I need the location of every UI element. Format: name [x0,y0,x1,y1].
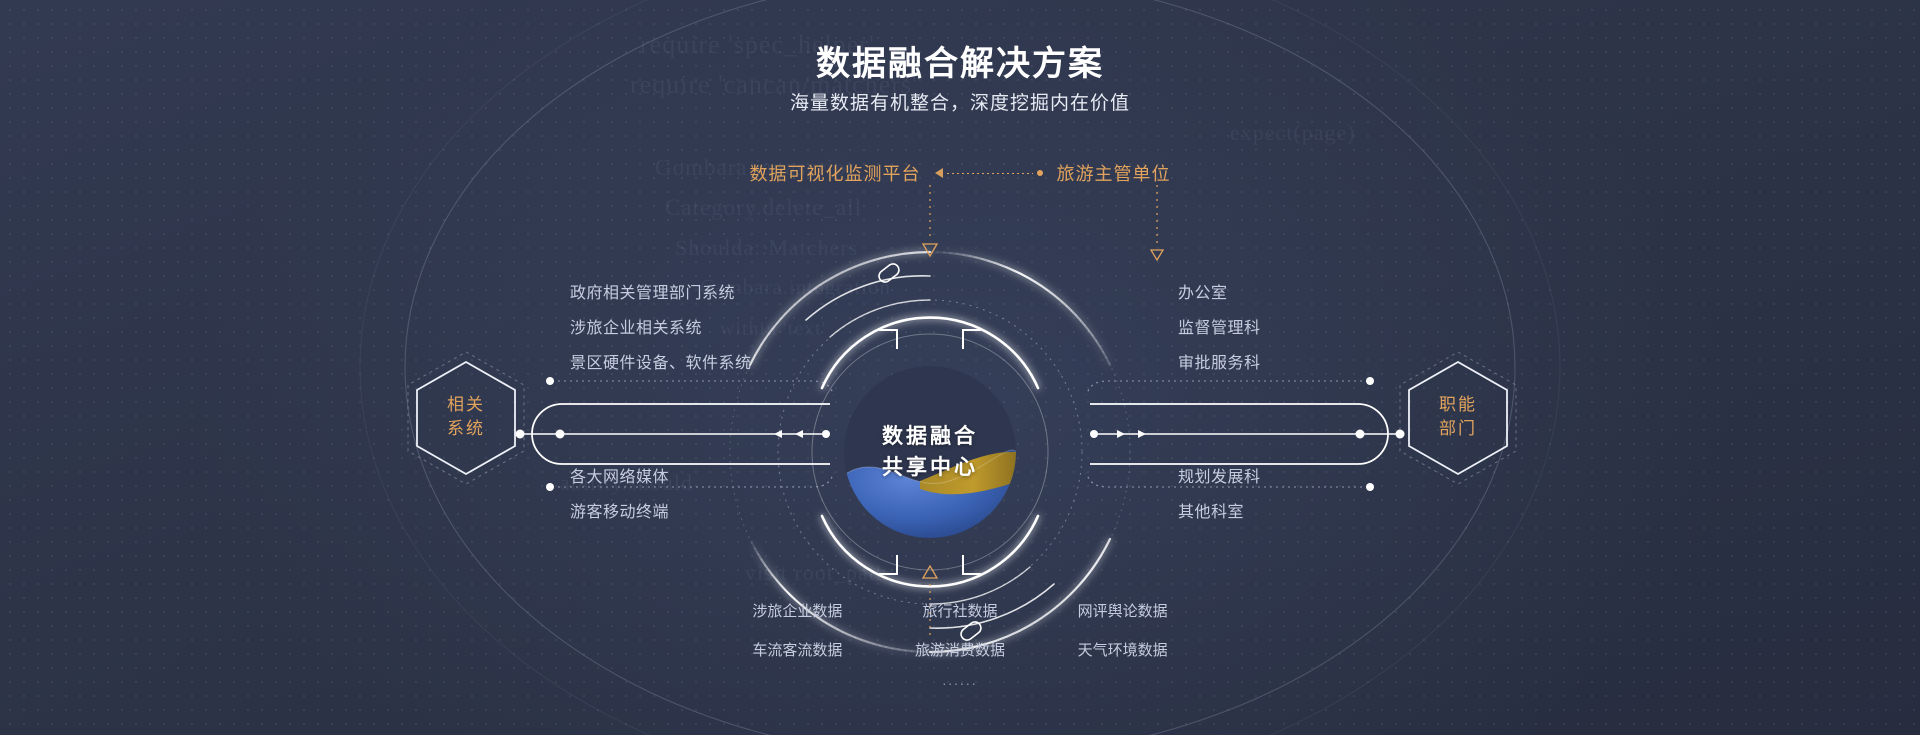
core-line2: 共享中心 [882,452,978,483]
right-lower-departments: 规划发展科 其他科室 [1178,460,1261,530]
right-upper-departments: 办公室 监督管理科 审批服务科 [1178,276,1261,381]
left-lower-sources: 各大网络媒体 游客移动终端 [570,460,669,530]
list-item: 车流客流数据 [720,639,875,660]
left-upper-sources: 政府相关管理部门系统 涉旅企业相关系统 景区硬件设备、软件系统 [570,276,752,381]
end-dot [1037,170,1043,176]
list-item: 办公室 [1178,276,1261,311]
dotted-line [947,173,1033,174]
list-item: 涉旅企业数据 [720,600,875,621]
list-item: 旅行社数据 [883,600,1038,621]
triangle-left-icon [935,168,943,178]
hexagon-left-line1: 相关 [447,393,485,417]
page-title: 数据融合解决方案 [0,36,1920,85]
hexagon-left-label: 相关 系统 [408,352,524,482]
code-line: Category.delete_all [665,195,862,221]
bottom-ellipsis: ...... [720,672,1200,688]
list-item: 涉旅企业相关系统 [570,311,752,346]
page-subtitle: 海量数据有机整合，深度挖掘内在价值 [0,88,1920,115]
list-item: 政府相关管理部门系统 [570,276,752,311]
code-line: expect(page) [1230,120,1356,146]
list-item: 景区硬件设备、软件系统 [570,346,752,381]
hexagon-right-functional-departments[interactable]: 职能 部门 [1400,352,1516,482]
list-item: 天气环境数据 [1045,639,1200,660]
hexagon-left-related-systems[interactable]: 相关 系统 [408,352,524,482]
hexagon-left-line2: 系统 [447,417,485,441]
hexagon-right-label: 职能 部门 [1400,352,1516,482]
code-line: visit root_path [745,560,888,586]
code-line: Shoulda::Matchers [675,235,858,261]
top-flow-row: 数据可视化监测平台 旅游主管单位 [0,160,1920,186]
infographic-canvas: require 'spec_helper' require 'cancan/ma… [0,0,1920,735]
arrow-left-dotted-icon [935,168,1043,178]
list-item: 游客移动终端 [570,495,669,530]
list-item: 审批服务科 [1178,346,1261,381]
list-item: 其他科室 [1178,495,1261,530]
list-item: 监督管理科 [1178,311,1261,346]
core-line1: 数据融合 [882,421,978,452]
label-visualization-platform[interactable]: 数据可视化监测平台 [750,160,921,186]
list-item: 各大网络媒体 [570,460,669,495]
bottom-data-sources: 涉旅企业数据 旅行社数据 网评舆论数据 车流客流数据 旅游消费数据 天气环境数据 [720,600,1200,660]
left-connector-bus [516,377,835,491]
list-item: 旅游消费数据 [883,639,1038,660]
list-item: 规划发展科 [1178,460,1261,495]
core-sphere-label: 数据融合 共享中心 [844,366,1016,538]
list-item: 网评舆论数据 [1045,600,1200,621]
label-tourism-authority[interactable]: 旅游主管单位 [1057,160,1171,186]
top-orange-connectors [923,185,1163,260]
hexagon-right-line1: 职能 [1439,393,1477,417]
hexagon-right-line2: 部门 [1439,417,1477,441]
